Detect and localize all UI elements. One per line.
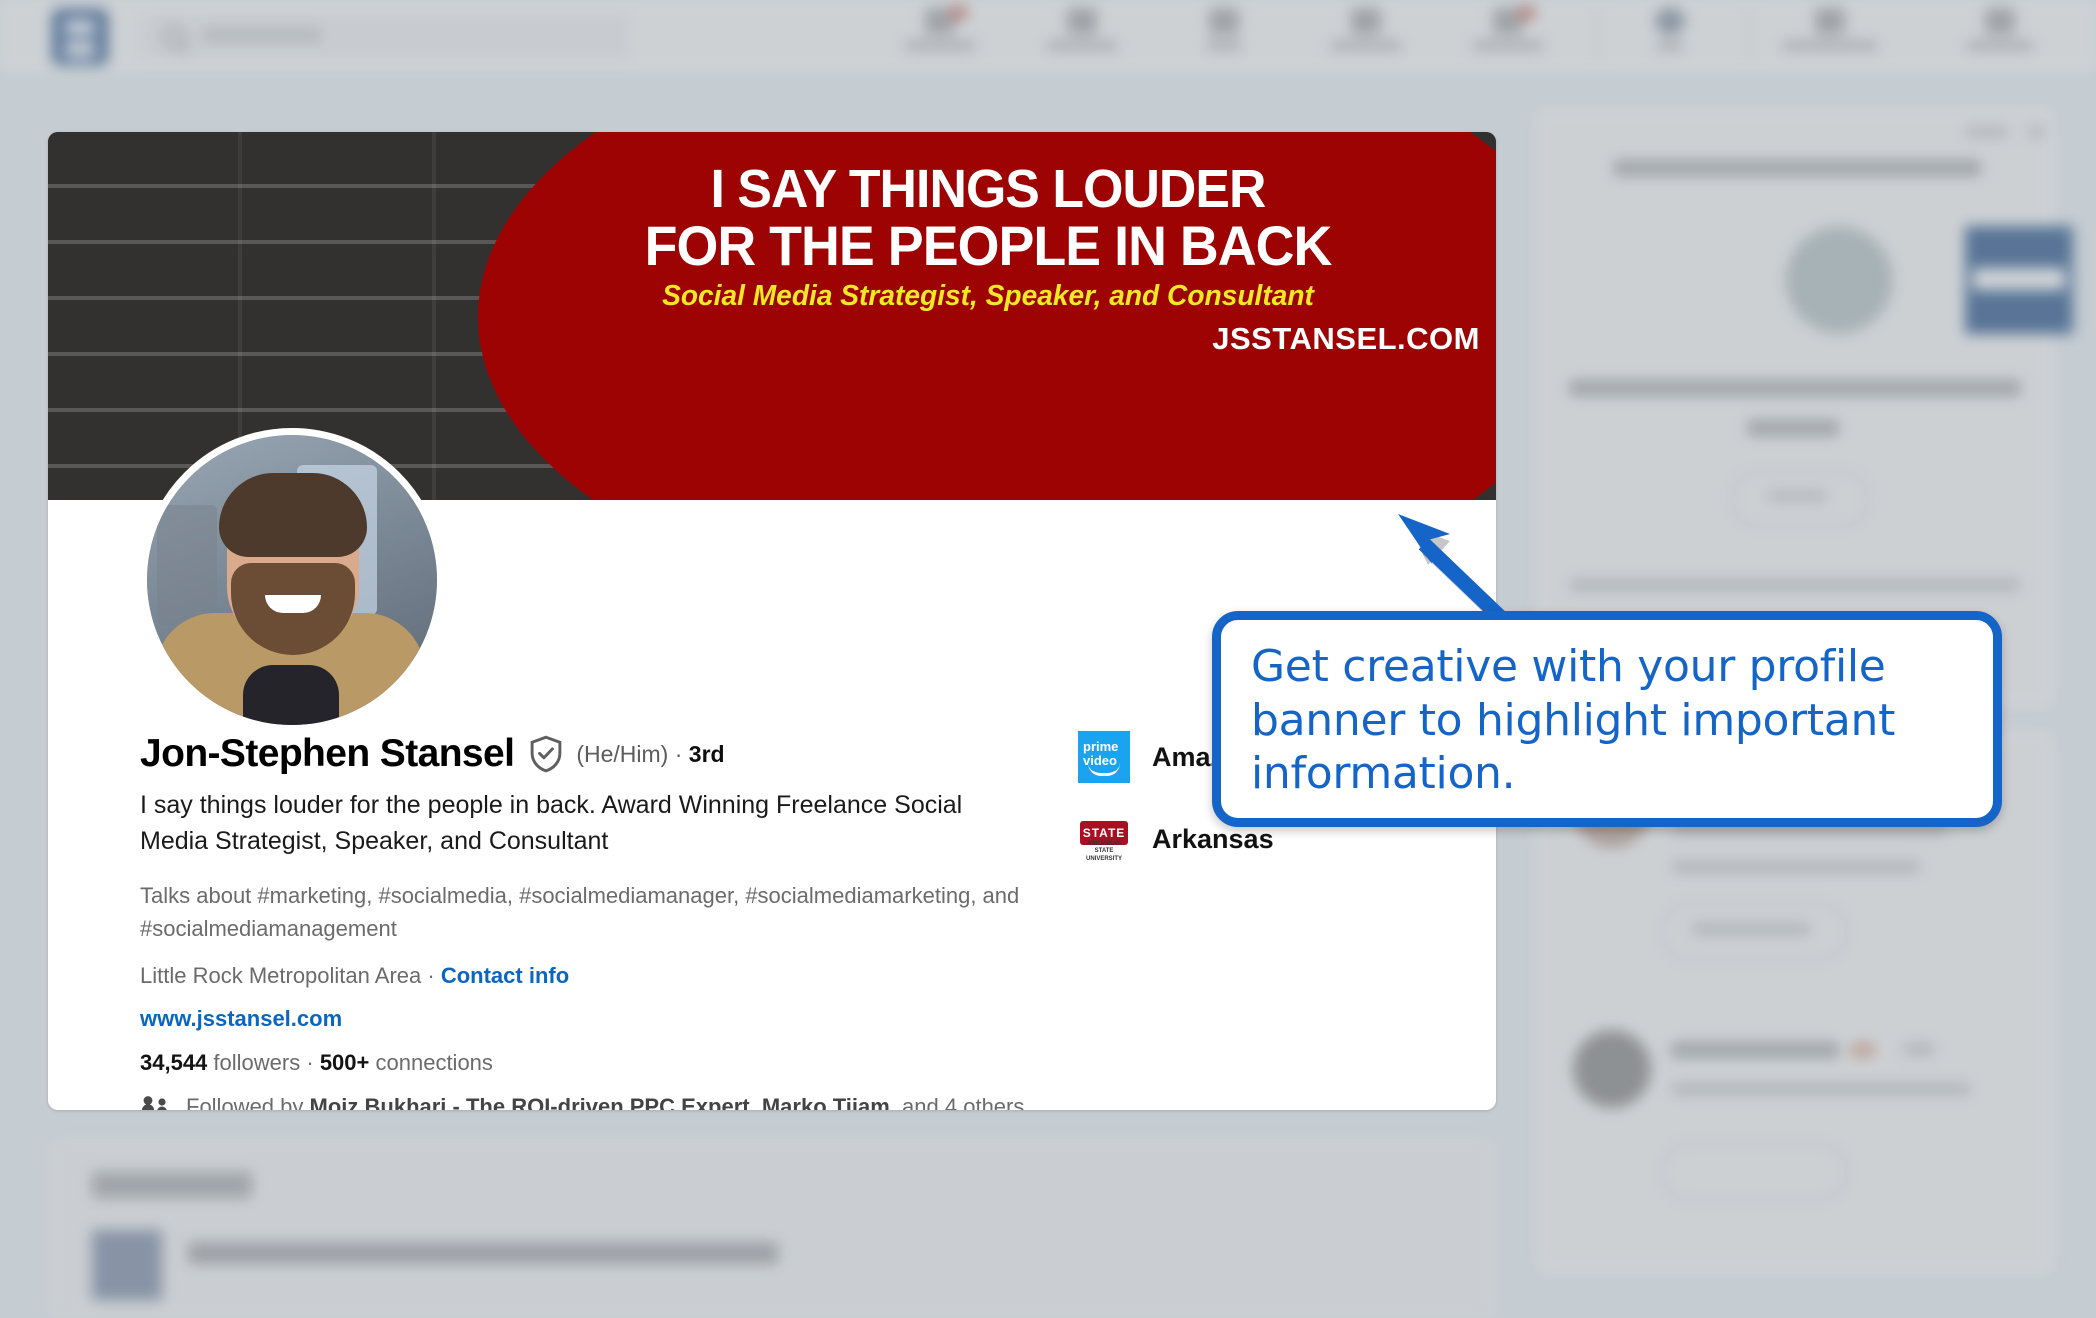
- profile-talks-about: Talks about #marketing, #socialmedia, #s…: [140, 879, 1020, 945]
- message-icon: [1351, 8, 1381, 34]
- contact-info-link[interactable]: Contact info: [441, 963, 569, 988]
- banner-line-1: I SAY THINGS LOUDER: [498, 162, 1477, 217]
- amazon-prime-video-logo: primevideo: [1078, 731, 1130, 783]
- followed-by-comma: ,: [750, 1094, 756, 1110]
- location-separator: ·: [427, 963, 434, 988]
- banner-line-3: Social Media Strategist, Speaker, and Co…: [493, 280, 1482, 313]
- profile-headline: I say things louder for the people in ba…: [140, 788, 1020, 859]
- highlights-card: [48, 1138, 1496, 1318]
- experience-name: Arkansas: [1152, 824, 1274, 855]
- advertise-icon: [1985, 8, 2015, 34]
- name-row: Jon-Stephen Stansel (He/Him) · 3rd: [140, 732, 1040, 776]
- page-title: Jon-Stephen Stansel: [140, 732, 514, 776]
- followers-label: followers: [213, 1050, 300, 1075]
- notifications-badge: [1516, 6, 1536, 20]
- nav-item-me[interactable]: [1600, 8, 1740, 51]
- linkedin-logo-icon[interactable]: [52, 9, 108, 65]
- followed-by-prefix: Followed by: [186, 1094, 303, 1110]
- nav-item-jobs[interactable]: [1154, 8, 1294, 51]
- connections-count[interactable]: 500+: [320, 1050, 370, 1075]
- highlights-item-text: [188, 1242, 778, 1264]
- search-input[interactable]: [140, 14, 630, 58]
- grid-icon: [1815, 8, 1845, 34]
- banner-line-2: FOR THE PEOPLE IN BACK: [498, 217, 1477, 274]
- followed-by-suffix: , and 4 others: [890, 1094, 1025, 1110]
- nav-item-advertise[interactable]: [1930, 8, 2070, 51]
- stats-separator: ·: [306, 1050, 313, 1075]
- banner-line-4: JSSTANSEL.COM: [478, 321, 1496, 357]
- profile-location-row: Little Rock Metropolitan Area · Contact …: [140, 963, 1040, 989]
- profile-photo[interactable]: [140, 428, 444, 732]
- annotation-callout: Get creative with your profile banner to…: [1212, 611, 2002, 827]
- nav-item-my-network[interactable]: [1012, 8, 1152, 51]
- search-placeholder: [202, 27, 322, 43]
- highlights-title: [92, 1172, 252, 1198]
- briefcase-icon: [1209, 8, 1239, 34]
- search-icon: [162, 25, 186, 49]
- avatar-icon: [1655, 8, 1685, 34]
- annotation-callout-text: Get creative with your profile banner to…: [1221, 620, 1993, 801]
- location-text: Little Rock Metropolitan Area: [140, 963, 421, 988]
- nav-item-notifications[interactable]: [1438, 8, 1578, 51]
- connections-label: connections: [376, 1050, 493, 1075]
- profile-stats: 34,544 followers · 500+ connections: [140, 1050, 1040, 1076]
- nav-item-messaging[interactable]: [1296, 8, 1436, 51]
- top-navigation-bar: [0, 0, 2096, 72]
- arkansas-state-university-logo: STATE ARKANSAS STATE UNIVERSITY: [1078, 813, 1130, 865]
- pronouns: (He/Him): [576, 741, 668, 767]
- meta-separator: ·: [675, 741, 683, 767]
- banner-text: I SAY THINGS LOUDER FOR THE PEOPLE IN BA…: [478, 132, 1496, 357]
- followed-by-row: Followed by Moiz Bukhari - The ROI-drive…: [140, 1094, 1040, 1110]
- nav-item-home[interactable]: [870, 8, 1010, 51]
- followers-count: 34,544: [140, 1050, 207, 1075]
- profile-info: Jon-Stephen Stansel (He/Him) · 3rd I say…: [140, 732, 1040, 1110]
- network-icon: [1067, 8, 1097, 34]
- followed-by-person-2[interactable]: Marko Tijam: [762, 1094, 890, 1110]
- home-badge: [948, 6, 968, 20]
- people-icon: [140, 1095, 170, 1110]
- profile-meta: (He/Him) · 3rd: [576, 741, 724, 768]
- highlights-item-icon: [92, 1230, 162, 1300]
- nav-item-for-business[interactable]: [1760, 8, 1900, 51]
- verified-shield-icon: [528, 735, 564, 773]
- profile-website-link[interactable]: www.jsstansel.com: [140, 1006, 1040, 1032]
- followed-by-person-1[interactable]: Moiz Bukhari - The ROI-driven PPC Expert: [310, 1094, 750, 1110]
- degree-badge: 3rd: [689, 741, 725, 767]
